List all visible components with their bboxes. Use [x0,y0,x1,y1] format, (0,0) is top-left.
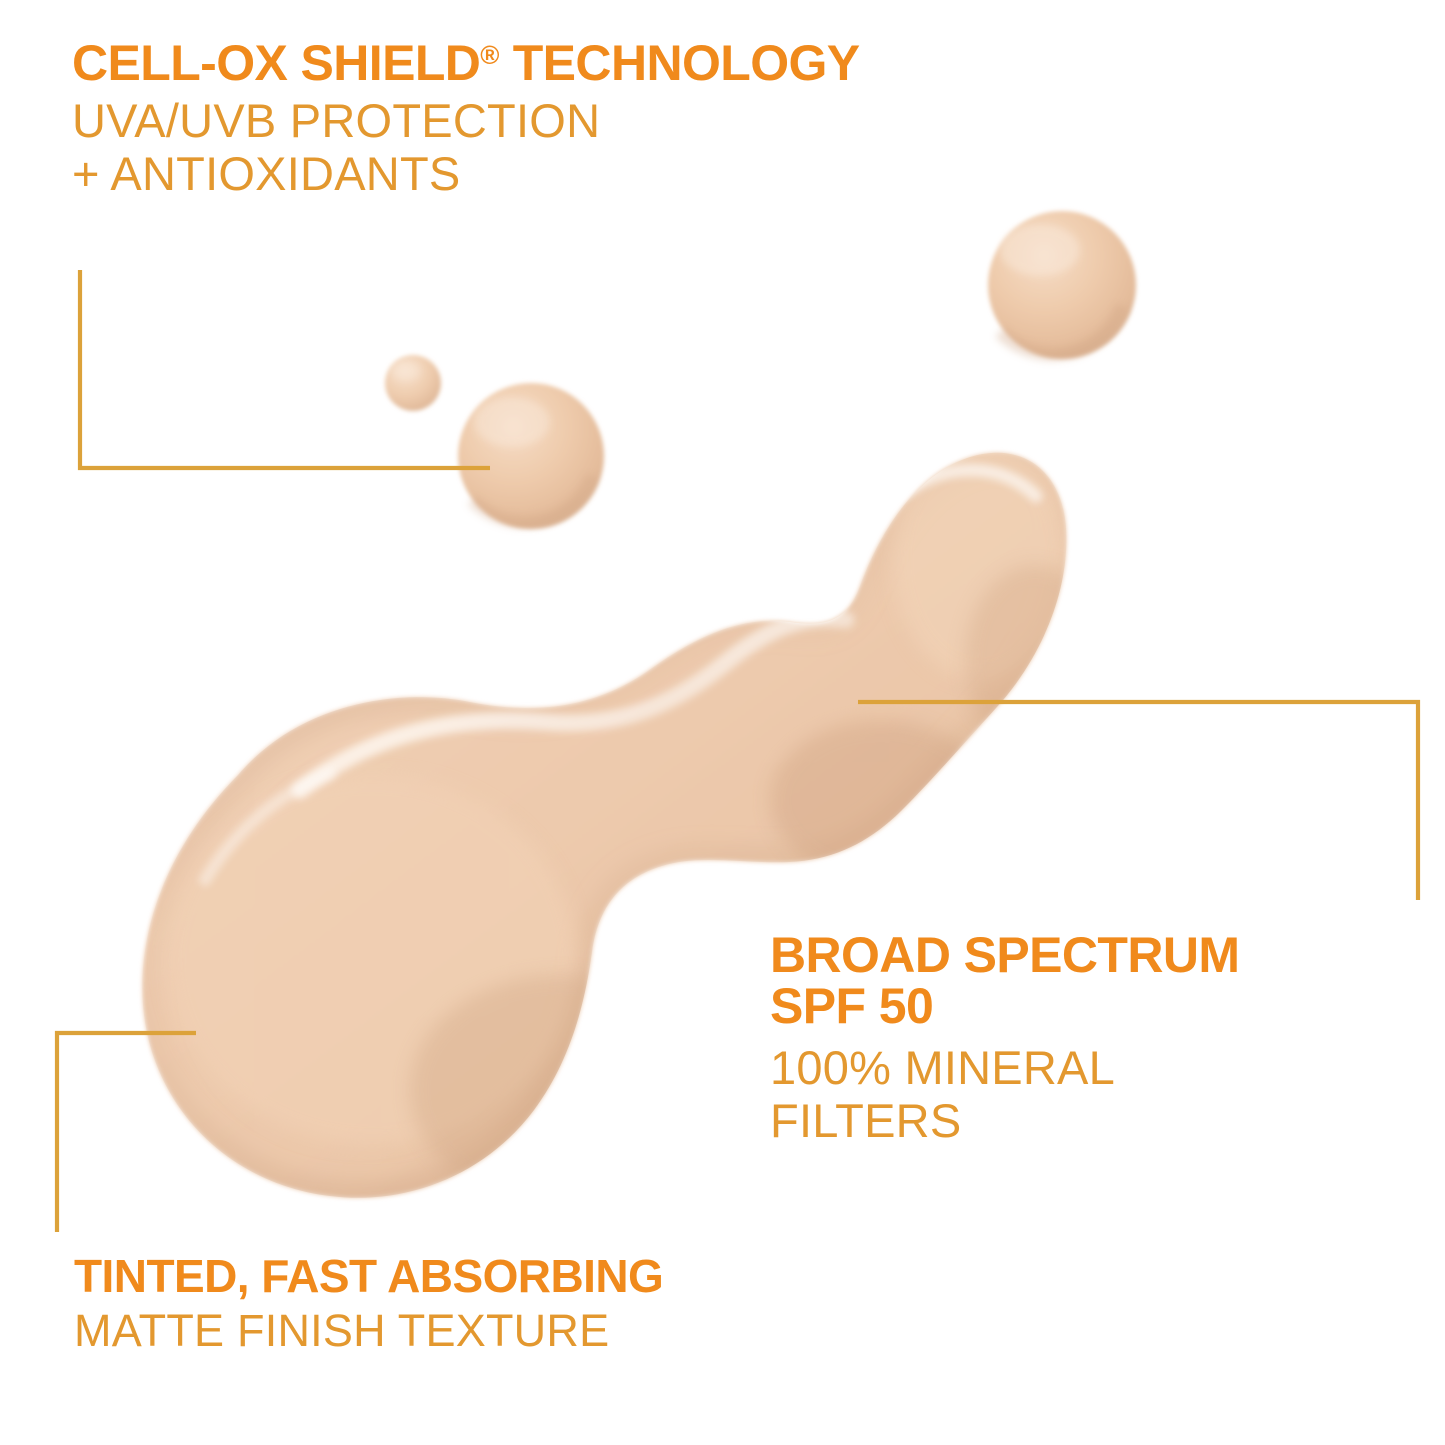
cell-ox-headline-suffix: TECHNOLOGY [499,35,859,91]
cell-ox-subtext-line-2: + ANTIOXIDANTS [72,148,1152,201]
leader-line-brackets [0,0,1445,1445]
tinted-headline: TINTED, FAST ABSORBING [74,1253,1074,1300]
spf-subtext-line-2: FILTERS [770,1095,1430,1148]
bracket-cell-ox [80,270,490,468]
infographic-canvas: CELL-OX SHIELD® TECHNOLOGY UVA/UVB PROTE… [0,0,1445,1445]
cell-ox-subtext: UVA/UVB PROTECTION + ANTIOXIDANTS [72,95,1152,200]
callout-broad-spectrum-spf: BROAD SPECTRUM SPF 50 100% MINERAL FILTE… [770,930,1430,1147]
tinted-subtext: MATTE FINISH TEXTURE [74,1306,1074,1356]
spf-headline-line-1: BROAD SPECTRUM [770,930,1430,981]
cell-ox-subtext-line-1: UVA/UVB PROTECTION [72,95,1152,148]
cell-ox-headline-main: CELL-OX SHIELD [72,35,480,91]
spf-headline-line-2: SPF 50 [770,981,1430,1032]
cell-ox-headline: CELL-OX SHIELD® TECHNOLOGY [72,38,1152,89]
bracket-spf [858,702,1418,900]
callout-cell-ox-shield: CELL-OX SHIELD® TECHNOLOGY UVA/UVB PROTE… [72,38,1152,200]
callout-tinted-fast-absorbing: TINTED, FAST ABSORBING MATTE FINISH TEXT… [74,1253,1074,1356]
spf-subtext: 100% MINERAL FILTERS [770,1042,1430,1147]
registered-trademark-icon: ® [480,40,499,70]
spf-headline: BROAD SPECTRUM SPF 50 [770,930,1430,1032]
bracket-tinted [57,1033,196,1232]
spf-subtext-line-1: 100% MINERAL [770,1042,1430,1095]
tinted-subtext-line-1: MATTE FINISH TEXTURE [74,1306,1074,1356]
